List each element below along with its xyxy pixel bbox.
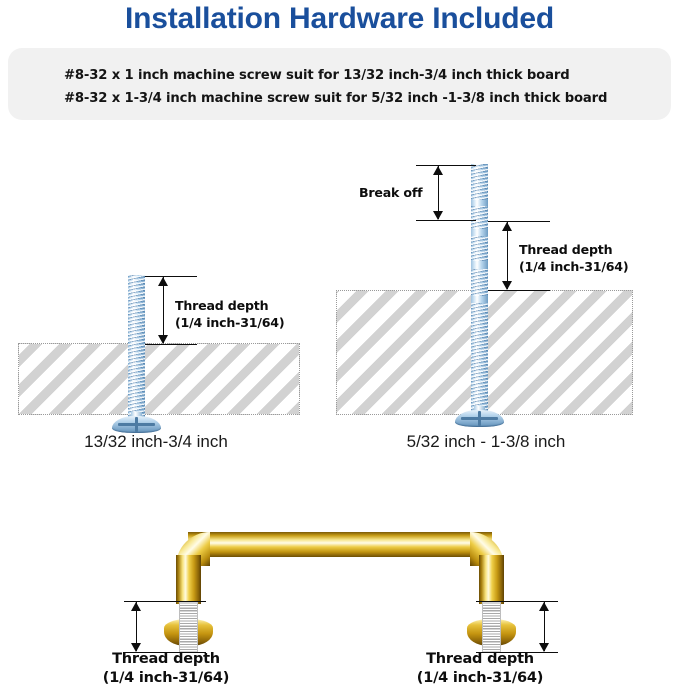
- handle-figure: [150, 515, 530, 650]
- dim-tick-breakoff-top: [416, 165, 476, 166]
- screw-thread-segment-2: [471, 269, 488, 296]
- screw-shank: [128, 275, 145, 417]
- dim-tick-thread-bottom-right: [488, 290, 550, 291]
- spec-box: #8-32 x 1 inch machine screw suit for 13…: [8, 48, 671, 120]
- screw-breakoff-segment-1: [471, 164, 488, 200]
- dim-tick-top-left: [145, 276, 197, 277]
- caption-right: 5/32 inch - 1-3/8 inch: [340, 432, 632, 452]
- dim-arrowhead-down-left: [158, 335, 168, 344]
- dim-arrowhead-up-breakoff: [433, 166, 443, 175]
- dim-arrowhead-down-thread-right: [502, 281, 512, 290]
- handle-thread-depth-label-right-line1: Thread depth: [390, 650, 570, 669]
- dim-tick-bottom-left: [145, 344, 197, 345]
- diagram-long-screw: Break off Thread depth (1/4 inch-31/64) …: [340, 150, 679, 470]
- diagram-short-screw: Thread depth (1/4 inch-31/64) 13/32 inch…: [0, 150, 340, 470]
- handle-right-threaded-post-front: [482, 619, 501, 653]
- dim-arrow-line-left: [163, 277, 164, 343]
- screw-breakoff-groove-4: [471, 296, 488, 303]
- spec-line-screw-1inch: #8-32 x 1 inch machine screw suit for 13…: [64, 68, 569, 83]
- dim-tick-thread-top-right: [488, 221, 550, 222]
- handle-thread-depth-label-left-line2: (1/4 inch-31/64): [76, 669, 256, 688]
- handle-thread-depth-label-right-line2: (1/4 inch-31/64): [390, 669, 570, 688]
- caption-left: 13/32 inch-3/4 inch: [0, 432, 312, 452]
- screw-shank-in-board: [471, 303, 488, 411]
- dim-arrowhead-down-breakoff: [433, 211, 443, 220]
- handle-thread-depth-label-right: Thread depth (1/4 inch-31/64): [390, 650, 570, 688]
- handle-right-leg: [479, 555, 504, 604]
- thread-depth-label-right-line2: (1/4 inch-31/64): [519, 259, 628, 274]
- dim-arrow-line-thread-right: [507, 222, 508, 289]
- handle-left-threaded-post-front: [179, 619, 198, 653]
- board-cross-section-left: [18, 343, 300, 415]
- thread-depth-label-left-line1: Thread depth: [175, 298, 268, 313]
- screw-head-long-slot-horizontal: [461, 417, 498, 420]
- product-infographic: Installation Hardware Included #8-32 x 1…: [0, 0, 679, 690]
- breakoff-label: Break off: [359, 185, 422, 200]
- screw-breakoff-groove-2: [471, 229, 488, 236]
- screw-breakoff-segment-2: [471, 206, 488, 229]
- dim-arrowhead-up-left: [158, 277, 168, 286]
- screw-thread-segment-1: [471, 236, 488, 261]
- screw-breakoff-groove-3: [471, 261, 488, 269]
- handle-thread-depth-label-left: Thread depth (1/4 inch-31/64): [76, 650, 256, 688]
- handle-thread-depth-label-left-line1: Thread depth: [76, 650, 256, 669]
- page-title: Installation Hardware Included: [0, 2, 679, 36]
- dim-arrowhead-up-thread-right: [502, 222, 512, 231]
- screw-head-slot-horizontal: [118, 423, 155, 426]
- handle-dim-arrowhead-up-left: [131, 602, 141, 611]
- dim-tick-breakoff-bottom: [416, 220, 476, 221]
- handle-left-leg: [176, 555, 201, 604]
- handle-top-bar: [188, 532, 492, 557]
- handle-dim-arrowhead-up-right: [539, 602, 549, 611]
- thread-depth-label-left-line2: (1/4 inch-31/64): [175, 315, 284, 330]
- thread-depth-label-right-line1: Thread depth: [519, 242, 612, 257]
- spec-line-screw-1-3-4inch: #8-32 x 1-3/4 inch machine screw suit fo…: [64, 91, 607, 106]
